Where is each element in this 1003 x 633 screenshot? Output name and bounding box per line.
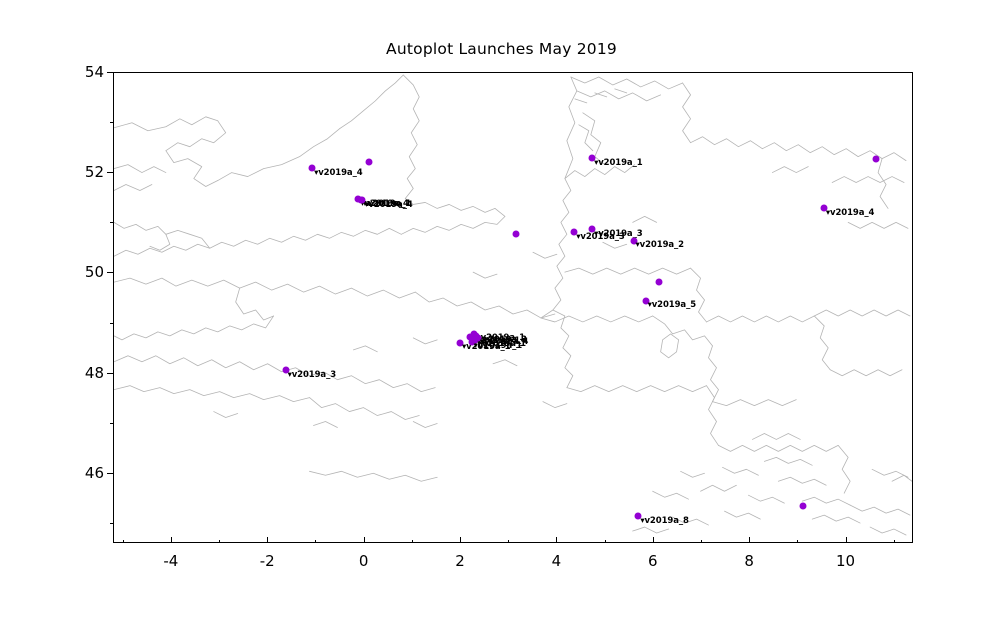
x-tick-label: 4 [552,552,562,570]
scatter-point-label: ▾v2019a_2 [636,240,684,250]
x-tick-label: 8 [744,552,754,570]
map-axes[interactable]: ▾v2019a_4▾v2019a_4▾v2019a_1▾v2019a_4▾v20… [113,72,913,543]
x-tick-label: 2 [455,552,465,570]
y-tick-label: 46 [85,464,104,482]
scatter-point-label: ▾v2019a_8 [640,516,688,526]
scatter-points-layer: ▾v2019a_4▾v2019a_4▾v2019a_1▾v2019a_4▾v20… [114,73,912,542]
page-title: Autoplot Launches May 2019 [0,40,1003,58]
y-tick-label: 52 [85,163,104,181]
scatter-point[interactable] [800,503,807,510]
x-tick-label: 6 [648,552,658,570]
scatter-point[interactable] [366,159,373,166]
x-tick-label: -4 [163,552,178,570]
scatter-point-label: ▾v2019a_1 [474,341,522,351]
scatter-point[interactable] [513,231,520,238]
x-tick-label: 0 [359,552,369,570]
scatter-point-label: ▾v2019a_4 [364,200,412,210]
x-tick-label: -2 [260,552,275,570]
scatter-point[interactable] [873,156,880,163]
y-tick-label: 54 [85,63,104,81]
y-tick-label: 48 [85,364,104,382]
scatter-point[interactable] [655,279,662,286]
matplotlib-figure: Autoplot Launches May 2019 [0,0,1003,633]
scatter-point-label: ▾v2019a_3 [288,370,336,380]
y-tick-label: 50 [85,263,104,281]
scatter-point-label: ▾v2019a_5 [648,300,696,310]
scatter-point-label: ▾v2019a_1 [594,158,642,168]
scatter-point-label: ▾v2019a_4 [826,208,874,218]
x-tick-label: 10 [836,552,855,570]
scatter-point-label: ▾v2019a_4 [314,168,362,178]
